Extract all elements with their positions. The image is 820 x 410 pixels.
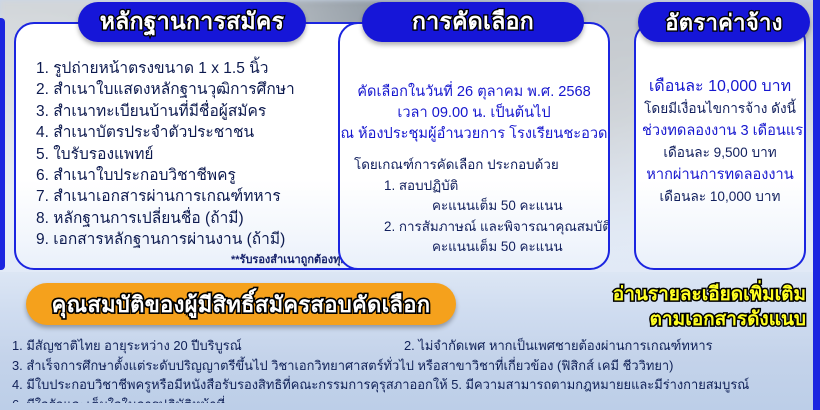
document-name: 9. เอกสารหลักฐานการผ่านงาน (ถ้ามี) xyxy=(36,226,285,251)
qualification-row: 4. มีใบประกอบวิชาชีพครูหรือมีหนังสือรับร… xyxy=(0,375,820,395)
right-edge-strip xyxy=(813,0,820,410)
criteria-item-score: คะแนนเต็ม 50 คะแนน xyxy=(354,196,610,217)
selection-venue-line: ณ ห้องประชุมผู้อำนวยการ โรงเรียนชะอวด xyxy=(340,124,608,145)
selection-criteria: โดยเกณฑ์การคัดเลือก ประกอบด้วย 1. สอบปฏิ… xyxy=(354,155,610,258)
qualify-banner-title: คุณสมบัติของผู้มีสิทธิ์สมัครสอบคัดเลือก xyxy=(52,287,431,322)
wage-card-title: อัตราค่าจ้าง xyxy=(665,5,782,40)
read-more-callout: อ่านรายละเอียดเพิ่มเติม ตามเอกสารดังแนบ xyxy=(613,282,806,332)
wage-line: เดือนละ 10,000 บาท xyxy=(642,76,798,98)
selection-card: คัดเลือกในวันที่ 26 ตุลาคม พ.ศ. 2568 เวล… xyxy=(338,22,610,270)
wage-lines: เดือนละ 10,000 บาท โดยมีเงื่อนไขการจ้าง … xyxy=(642,76,798,208)
selection-header-lines: คัดเลือกในวันที่ 26 ตุลาคม พ.ศ. 2568 เวล… xyxy=(340,82,608,145)
qualify-banner: คุณสมบัติของผู้มีสิทธิ์สมัครสอบคัดเลือก xyxy=(26,283,456,325)
selection-card-title-pill: การคัดเลือก xyxy=(362,2,584,42)
wage-line: ช่วงทดลองงาน 3 เดือนแรก xyxy=(642,120,798,142)
qualification-item-2: 2. ไม่จำกัดเพศ หากเป็นเพศชายต้องผ่านการเ… xyxy=(404,336,713,356)
qualification-item-4-5: 4. มีใบประกอบวิชาชีพครูหรือมีหนังสือรับร… xyxy=(12,375,749,395)
selection-date-line: คัดเลือกในวันที่ 26 ตุลาคม พ.ศ. 2568 xyxy=(340,82,608,103)
callout-line-2: ตามเอกสารดังแนบ xyxy=(613,307,806,332)
qualification-item-6: 6. มีใจรักและเต็มใจในการปฏิบัติหน้าที่ xyxy=(12,395,225,403)
callout-line-1: อ่านรายละเอียดเพิ่มเติม xyxy=(613,282,806,307)
wage-line: เดือนละ 10,000 บาท xyxy=(642,186,798,208)
wage-line: หากผ่านการทดลองงาน xyxy=(642,164,798,186)
criteria-intro: โดยเกณฑ์การคัดเลือก ประกอบด้วย xyxy=(354,155,610,176)
selection-card-title: การคัดเลือก xyxy=(412,4,534,40)
documents-card-title: หลักฐานการสมัคร xyxy=(100,4,285,40)
wage-line: โดยมีเงื่อนไขการจ้าง ดังนี้ xyxy=(642,98,798,120)
qualifications-list: 1. มีสัญชาติไทย อายุระหว่าง 20 ปีบริบูรณ… xyxy=(0,336,820,403)
criteria-item-score: คะแนนเต็ม 50 คะแนน xyxy=(354,237,610,258)
criteria-item-label: 2. การสัมภาษณ์ และพิจารณาคุณสมบัติอื่น ๆ xyxy=(354,217,610,238)
qualification-row: 3. สำเร็จการศึกษาตั้งแต่ระดับปริญญาตรีขึ… xyxy=(0,356,820,376)
qualification-item-3: 3. สำเร็จการศึกษาตั้งแต่ระดับปริญญาตรีขึ… xyxy=(12,356,673,376)
qualification-item-1: 1. มีสัญชาติไทย อายุระหว่าง 20 ปีบริบูรณ… xyxy=(12,336,242,356)
qualification-row: 1. มีสัญชาติไทย อายุระหว่าง 20 ปีบริบูรณ… xyxy=(0,336,820,356)
wage-line: เดือนละ 9,500 บาท xyxy=(642,142,798,164)
left-edge-strip xyxy=(0,18,5,270)
wage-card-title-pill: อัตราค่าจ้าง xyxy=(638,2,810,42)
documents-card-title-pill: หลักฐานการสมัคร xyxy=(78,2,306,42)
qualification-row-clipped: 6. มีใจรักและเต็มใจในการปฏิบัติหน้าที่ xyxy=(0,395,820,403)
selection-time-line: เวลา 09.00 น. เป็นต้นไป xyxy=(340,103,608,124)
poster-canvas: 1. รูปถ่ายหน้าตรงขนาด 1 x 1.5 นิ้ว 1 รูป… xyxy=(0,0,820,410)
criteria-item-label: 1. สอบปฏิบัติ xyxy=(354,176,610,197)
wage-card: เดือนละ 10,000 บาท โดยมีเงื่อนไขการจ้าง … xyxy=(634,22,806,270)
